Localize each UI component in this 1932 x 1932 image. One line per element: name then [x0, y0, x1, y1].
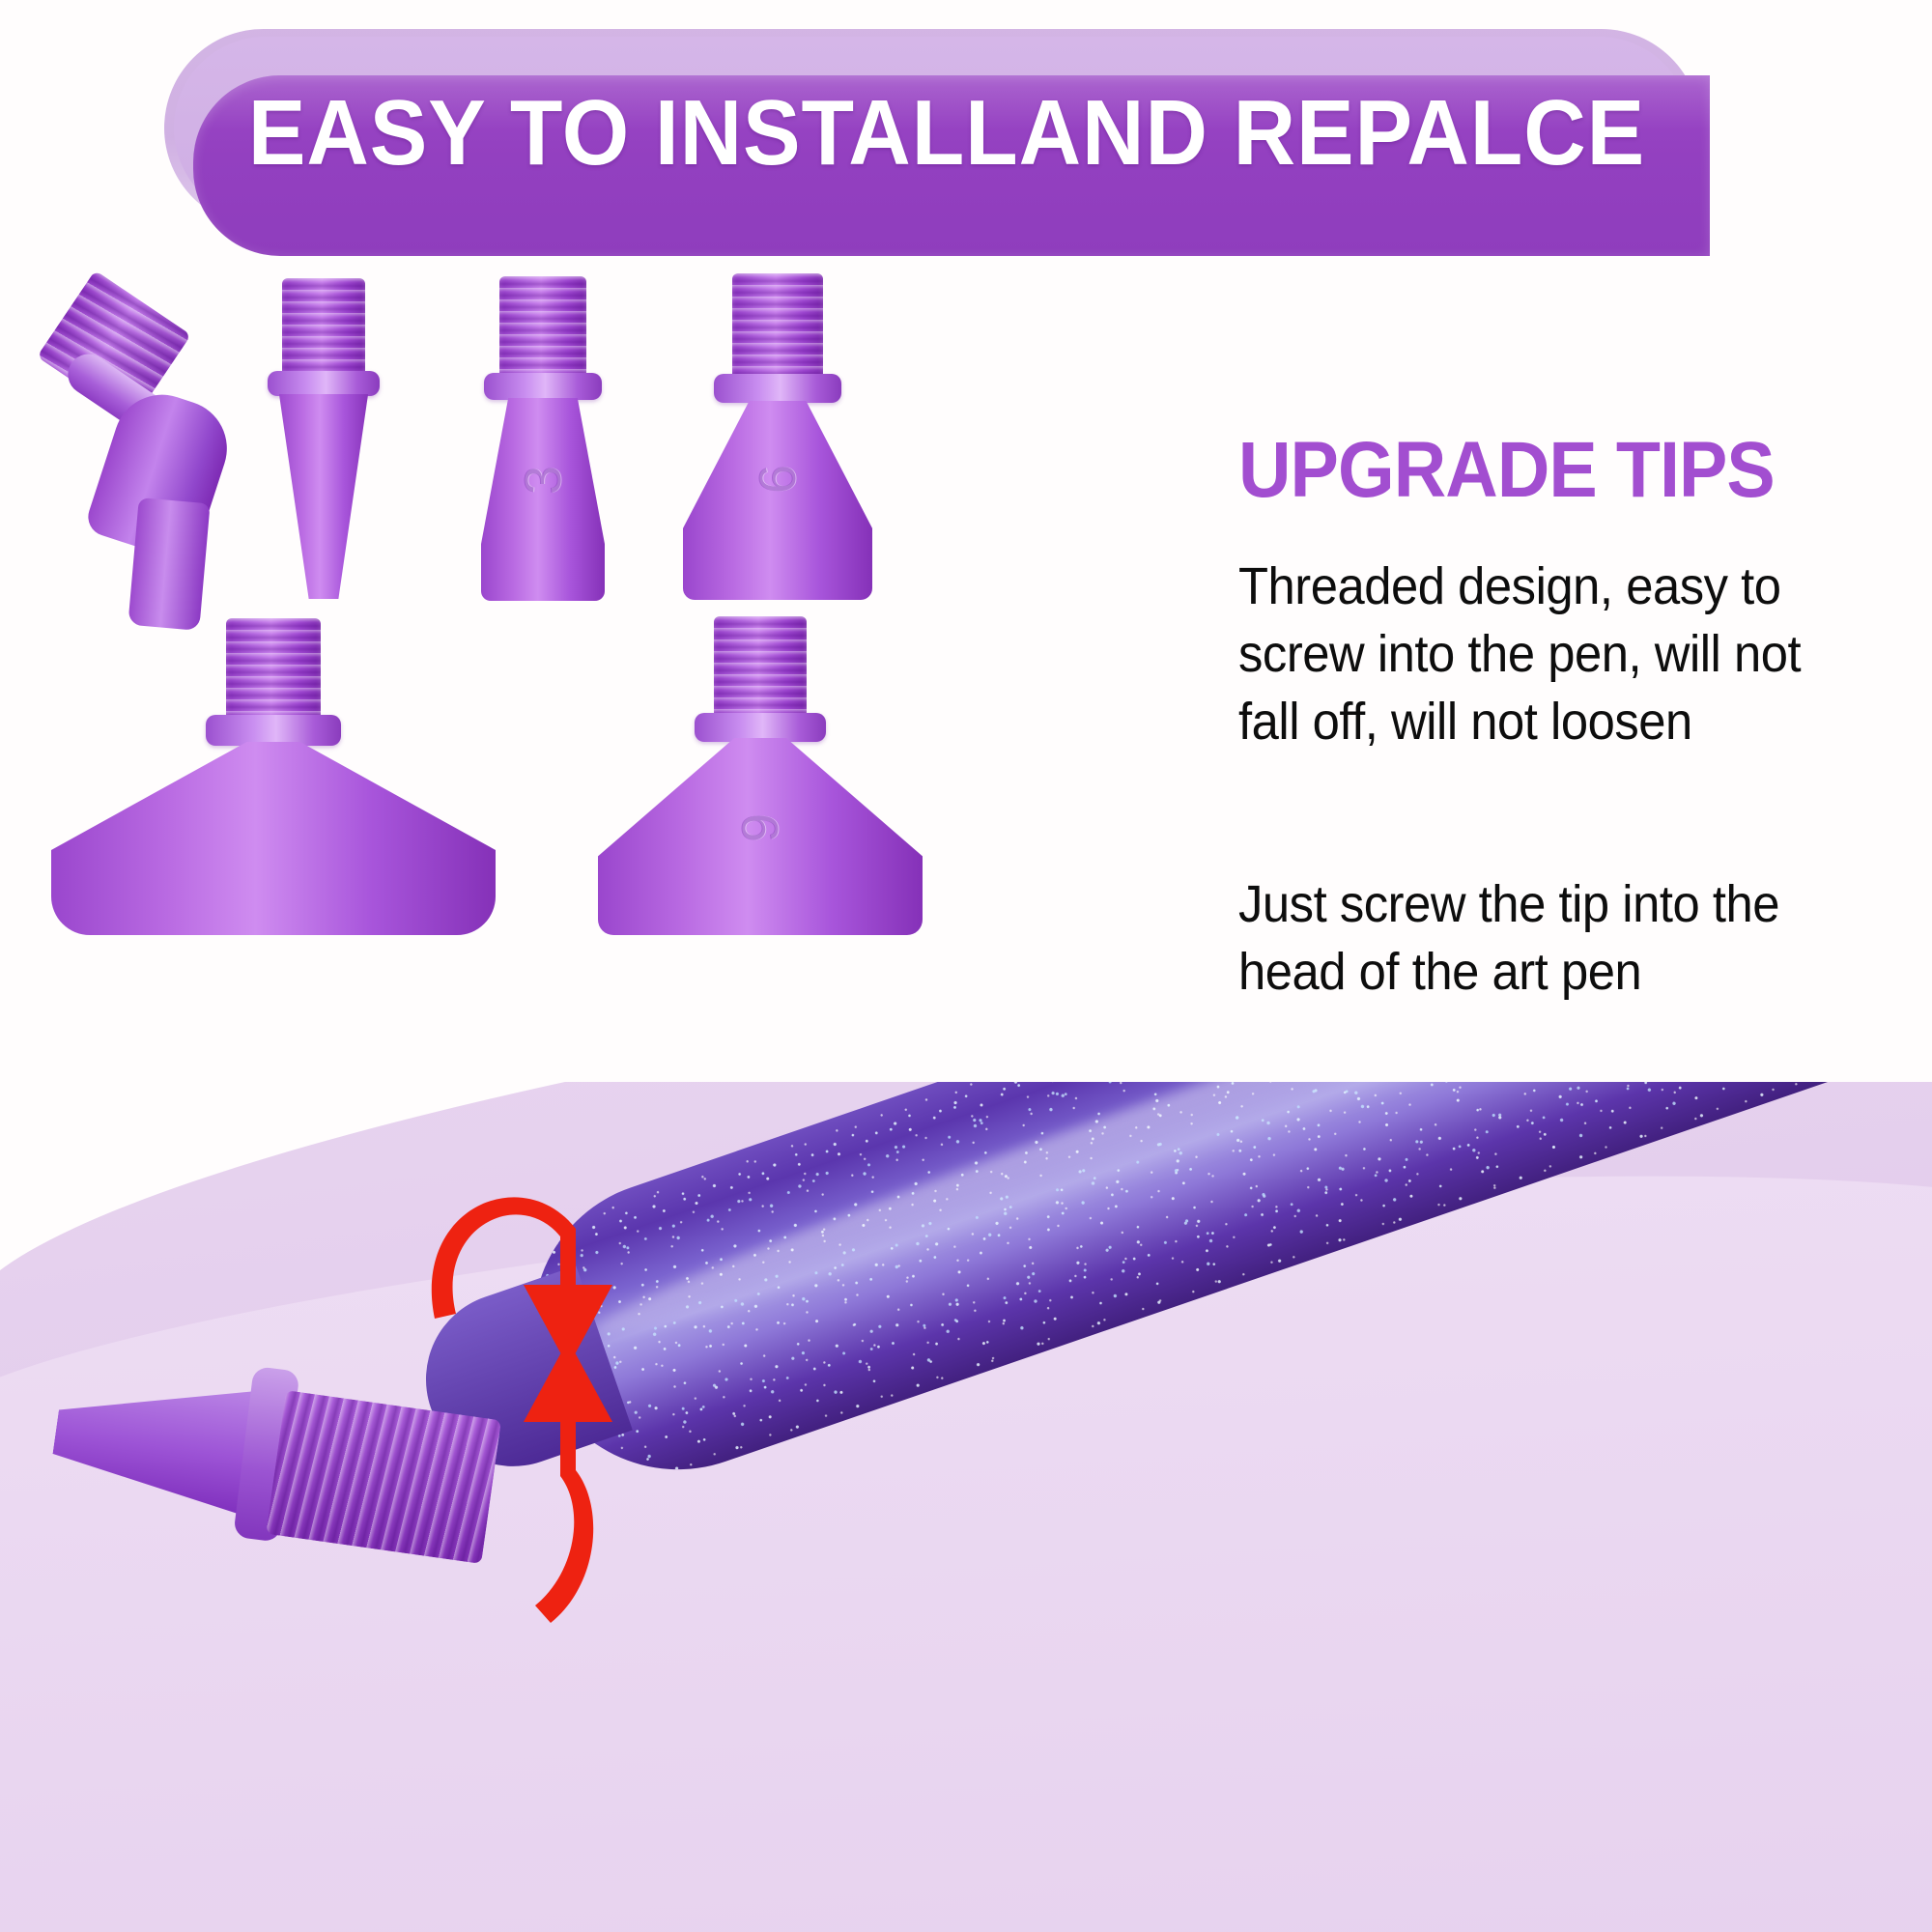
- info-text-column: UPGRADE TIPS Threaded design, easy to sc…: [1238, 425, 1876, 1006]
- bottom-demo-scene: [0, 1082, 1932, 1932]
- threaded-design-paragraph: Threaded design, easy to screw into the …: [1238, 553, 1837, 756]
- fine-point-thread: [282, 278, 365, 375]
- tip-wide-spreader: [46, 618, 500, 937]
- spreader-thread: [226, 618, 321, 719]
- upgrade-tips-heading: UPGRADE TIPS: [1238, 425, 1825, 516]
- tip-size-3: 3: [470, 276, 615, 595]
- tip-angled-bent: [39, 280, 261, 657]
- tip3-thread: [499, 276, 586, 377]
- tip-size-6: 6: [676, 273, 879, 597]
- tip9-chisel-body: [598, 738, 923, 935]
- headline-banner: EASY TO INSTALLAND REPALCE: [164, 29, 1700, 227]
- headline-text: EASY TO INSTALLAND REPALCE: [246, 75, 1648, 191]
- tip6-collar: [714, 374, 841, 403]
- tip-size-9: 9: [591, 616, 929, 935]
- tip3-collar: [484, 373, 602, 400]
- fine-point-cone: [277, 394, 370, 599]
- rotate-arrows-group: [406, 1169, 657, 1652]
- angled-tip-shaft: [128, 497, 210, 631]
- fine-point-collar: [268, 371, 380, 396]
- tip6-thread: [732, 273, 823, 378]
- product-feature-graphic: EASY TO INSTALLAND REPALCE 3 6 9: [0, 0, 1932, 1932]
- tip9-collar: [695, 713, 826, 742]
- tip9-thread: [714, 616, 807, 717]
- screw-instruction-paragraph: Just screw the tip into the head of the …: [1238, 870, 1837, 1006]
- rotation-arrows-icon: [406, 1169, 657, 1652]
- spreader-collar: [206, 715, 341, 746]
- tip3-chisel-body: [481, 398, 605, 601]
- tip6-chisel-body: [683, 401, 872, 600]
- spreader-flare-body: [51, 742, 496, 935]
- tip-fine-point: [266, 278, 382, 597]
